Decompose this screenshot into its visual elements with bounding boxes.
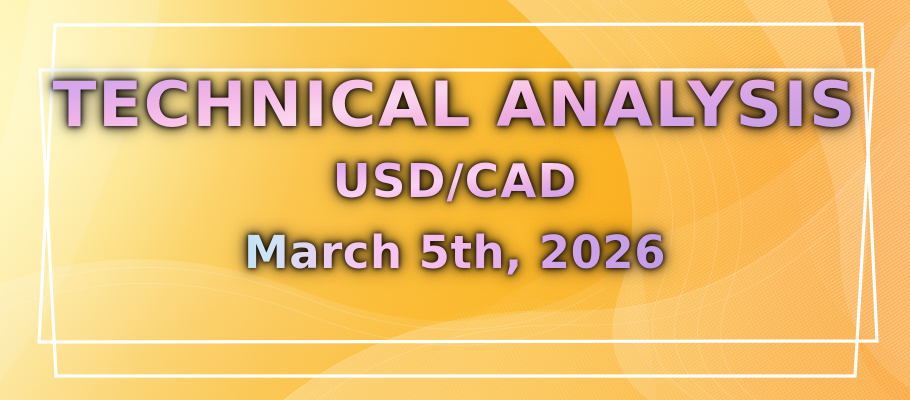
headline-row: TECHNICAL ANALYSIS TECHNICAL ANALYSIS bbox=[68, 74, 842, 136]
banner-text-content: TECHNICAL ANALYSIS TECHNICAL ANALYSIS US… bbox=[0, 0, 910, 400]
currency-pair-label: USD/CAD bbox=[333, 158, 578, 204]
date-label: March 5th, 2026 bbox=[244, 230, 666, 275]
date-row: March 5th, 2026 March 5th, 2026 bbox=[244, 230, 666, 275]
technical-analysis-banner: TECHNICAL ANALYSIS TECHNICAL ANALYSIS US… bbox=[0, 0, 910, 400]
currency-pair-row: USD/CAD USD/CAD bbox=[335, 158, 575, 204]
page-title: TECHNICAL ANALYSIS bbox=[53, 74, 857, 136]
